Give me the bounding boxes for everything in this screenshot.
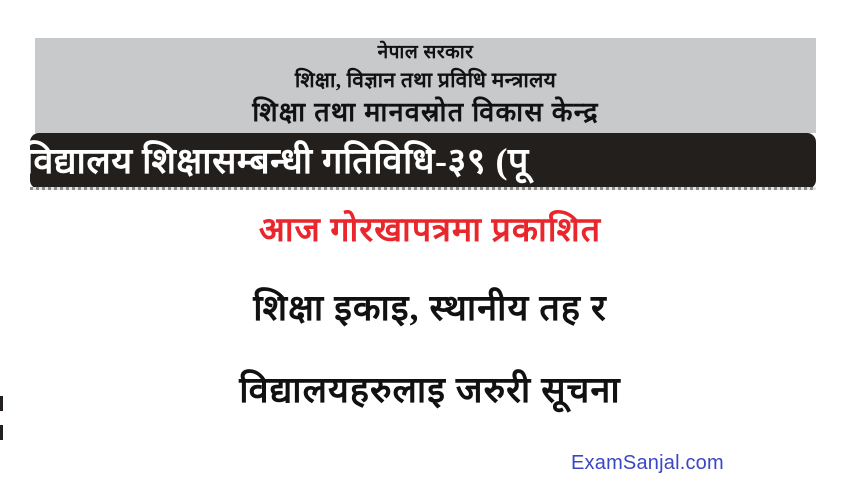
title-banner: विद्यालय शिक्षासम्बन्धी गतिविधि-३९ (पू (30, 133, 816, 189)
site-watermark: ExamSanjal.com (571, 452, 724, 475)
crop-mark-lower (0, 425, 3, 440)
headline-published-today: आज गोरखापत्रमा प्रकाशित (0, 208, 860, 254)
ministry-name-line: शिक्षा, विज्ञान तथा प्रविधि मन्त्रालय (35, 66, 816, 94)
letterhead-block: नेपाल सरकार शिक्षा, विज्ञान तथा प्रविधि … (35, 38, 816, 133)
crop-mark-upper (0, 396, 3, 411)
notice-poster: नेपाल सरकार शिक्षा, विज्ञान तथा प्रविधि … (0, 0, 860, 483)
government-name-line: नेपाल सरकार (35, 40, 816, 66)
title-banner-text: विद्यालय शिक्षासम्बन्धी गतिविधि-३९ (पू (30, 140, 529, 182)
banner-underline-rule (30, 187, 816, 190)
headline-notice-line-2: विद्यालयहरुलाइ जरुरी सूचना (0, 366, 860, 414)
department-name-line: शिक्षा तथा मानवस्रोत विकास केन्द्र (35, 94, 816, 130)
headline-notice-line-1: शिक्षा इकाइ, स्थानीय तह र (0, 284, 860, 332)
